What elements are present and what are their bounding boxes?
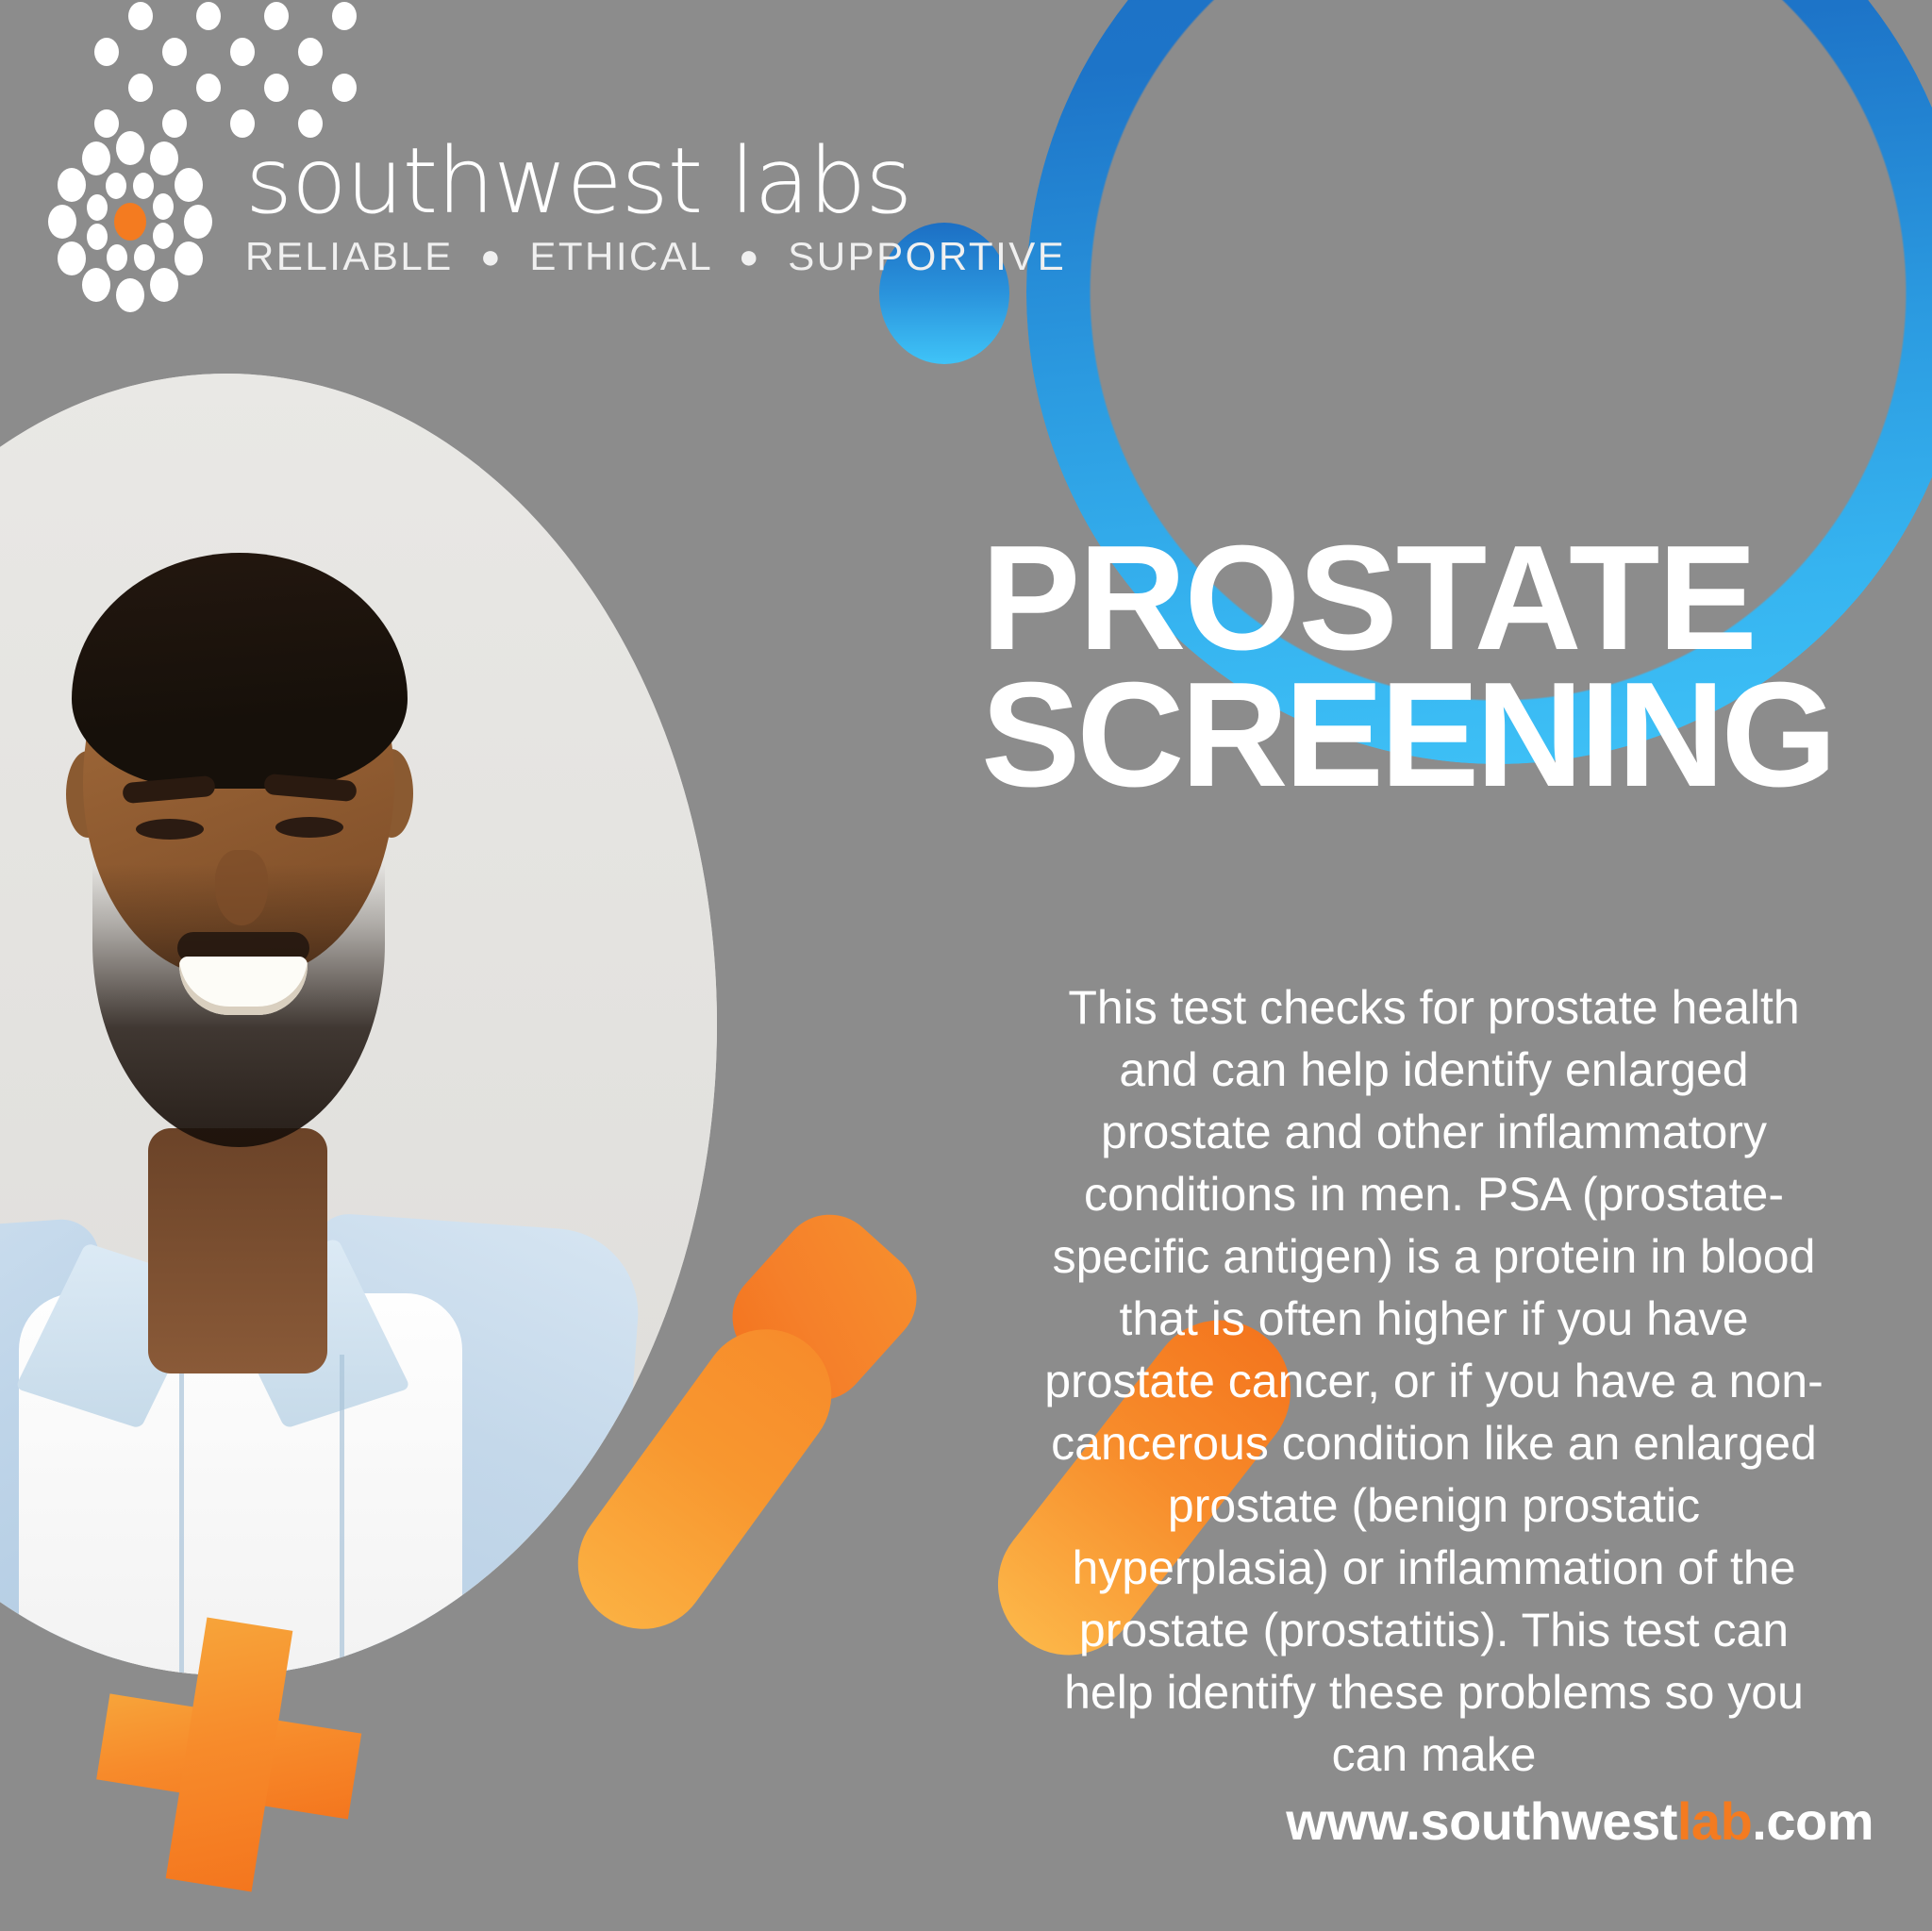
dot-grid-pattern-icon — [94, 0, 358, 132]
brand-logo: southwest labs RELIABLE ● ETHICAL ● SUPP… — [36, 132, 828, 311]
logo-dot-icon — [134, 244, 155, 271]
grid-dot-icon — [94, 38, 119, 66]
logo-dot-icon — [107, 244, 127, 271]
portrait-photo — [0, 374, 717, 1675]
grid-dot-icon — [128, 2, 153, 30]
logo-center-dot-icon — [114, 203, 146, 241]
grid-dot-icon — [298, 38, 323, 66]
brand-wordmark: southwest labs — [245, 136, 830, 226]
grid-dot-icon — [264, 2, 289, 30]
grid-dot-icon — [332, 2, 357, 30]
logo-dot-icon — [150, 268, 178, 302]
logo-dot-icon — [150, 141, 178, 175]
url-prefix: www.southwest — [1286, 1791, 1677, 1851]
logo-dot-icon — [82, 141, 110, 175]
logo-type: southwest labs RELIABLE ● ETHICAL ● SUPP… — [245, 136, 830, 279]
grid-dot-icon — [264, 74, 289, 102]
logo-dot-icon — [48, 205, 76, 239]
logo-dot-icon — [106, 173, 126, 199]
logo-dot-icon — [116, 278, 144, 312]
tagline-part-supportive: SUPPORTIVE — [788, 234, 1066, 278]
logo-dot-icon — [153, 223, 174, 249]
tagline-bullet-icon: ● — [725, 237, 774, 276]
grid-dot-icon — [196, 74, 221, 102]
grid-dot-icon — [162, 38, 187, 66]
logo-dot-icon — [116, 131, 144, 165]
brand-tagline: RELIABLE ● ETHICAL ● SUPPORTIVE — [245, 234, 830, 279]
tagline-part-reliable: RELIABLE — [245, 234, 454, 278]
logo-dot-icon — [133, 173, 154, 199]
body-paragraph: This test checks for prostate health and… — [1033, 976, 1835, 1786]
logo-dot-icon — [175, 241, 203, 275]
grid-dot-icon — [196, 2, 221, 30]
tagline-part-ethical: ETHICAL — [529, 234, 711, 278]
dot-burst-logo-icon — [36, 132, 229, 311]
url-suffix: .com — [1752, 1791, 1874, 1851]
headline-line-2: SCREENING — [981, 667, 1915, 804]
logo-dot-icon — [58, 241, 86, 275]
orange-plus-shape-icon — [83, 1605, 375, 1906]
url-highlight: lab — [1677, 1791, 1752, 1851]
logo-dot-icon — [58, 168, 86, 202]
website-url[interactable]: www.southwestlab.com — [1286, 1790, 1874, 1852]
grid-dot-icon — [332, 74, 357, 102]
poster-canvas: southwest labs RELIABLE ● ETHICAL ● SUPP… — [0, 0, 1932, 1931]
logo-dot-icon — [153, 193, 174, 220]
grid-dot-icon — [230, 38, 255, 66]
logo-dot-icon — [184, 205, 212, 239]
grid-dot-icon — [128, 74, 153, 102]
logo-dot-icon — [175, 168, 203, 202]
logo-dot-icon — [87, 194, 108, 221]
page-title: PROSTATE SCREENING — [981, 530, 1915, 805]
tagline-bullet-icon: ● — [467, 237, 516, 276]
logo-dot-icon — [87, 224, 108, 250]
logo-dot-icon — [82, 268, 110, 302]
